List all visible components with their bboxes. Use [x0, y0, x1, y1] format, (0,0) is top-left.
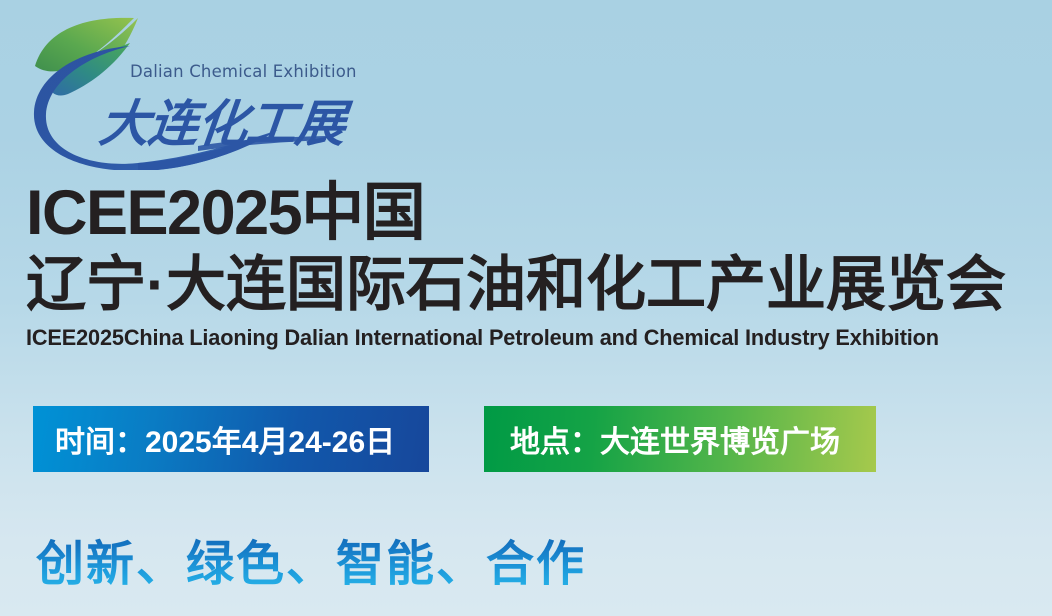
page-subtitle-english: ICEE2025China Liaoning Dalian Internatio… — [26, 325, 1001, 351]
info-badge-row: 时间：2025年4月24-26日 地点：大连世界博览广场 — [33, 406, 876, 472]
logo-block: Dalian Chemical Exhibition 大连化工展 — [26, 10, 356, 170]
exhibition-poster: Dalian Chemical Exhibition 大连化工展 ICEE202… — [0, 0, 1052, 616]
logo-chinese-wordmark: 大连化工展 — [96, 84, 349, 156]
page-title-line2: 辽宁·大连国际石油和化工产业展览会 — [26, 255, 1036, 315]
headline-group: ICEE2025中国 辽宁·大连国际石油和化工产业展览会 ICEE2025Chi… — [26, 182, 1036, 351]
event-venue-badge: 地点：大连世界博览广场 — [484, 406, 876, 472]
logo-tagline: Dalian Chemical Exhibition — [130, 62, 357, 81]
page-title-line1: ICEE2025中国 — [26, 182, 1036, 245]
event-slogan: 创新、绿色、智能、合作 — [36, 524, 586, 594]
event-date-badge: 时间：2025年4月24-26日 — [33, 406, 429, 472]
